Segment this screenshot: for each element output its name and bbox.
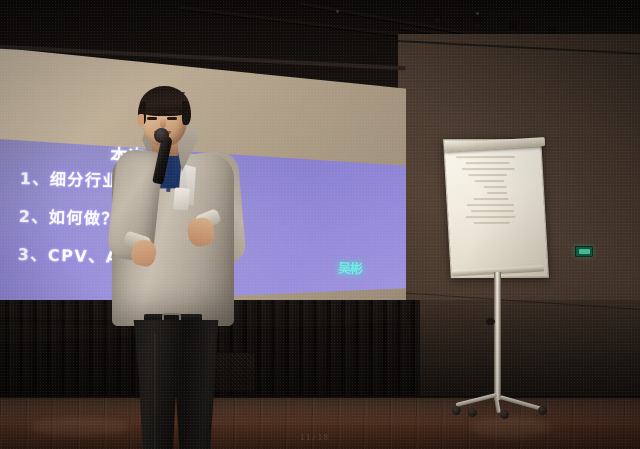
presenter-trousers [130, 320, 222, 449]
base-leg [456, 393, 498, 407]
trouser-crease [154, 334, 156, 449]
handwriting-line [474, 180, 505, 182]
base-leg [499, 395, 542, 411]
eyebrow [166, 111, 179, 114]
caster-wheel [452, 406, 461, 415]
stage-light-icon [434, 10, 441, 19]
hair-side [182, 101, 191, 125]
flipchart-paper [443, 139, 549, 278]
stage-light-icon [474, 16, 481, 25]
handwriting-line [456, 156, 515, 158]
flipchart-handwriting [444, 140, 548, 277]
watermark: 11/18 [300, 433, 329, 442]
light-glint [476, 12, 479, 15]
name-badge [173, 187, 190, 210]
flipchart-height-knob [486, 318, 495, 325]
handwriting-line [468, 174, 508, 176]
presenter-ear [137, 114, 144, 126]
caster-wheel [500, 410, 509, 419]
flipchart-pole [494, 272, 501, 400]
emergency-exit-sign [575, 246, 593, 257]
handwriting-line [487, 192, 507, 194]
presenter [96, 84, 256, 449]
light-glint [336, 10, 339, 13]
flipchart-base [456, 393, 542, 415]
handwriting-line [466, 204, 513, 206]
handwriting-line [461, 168, 514, 170]
caster-wheel [538, 406, 547, 415]
handwriting-line [474, 198, 509, 200]
easel-reflection [470, 416, 550, 438]
caster-wheel [468, 408, 477, 417]
handwriting-line [473, 222, 510, 224]
handwriting-line [471, 210, 514, 212]
handwriting-line [465, 162, 509, 164]
handwriting-line [484, 186, 507, 188]
handwriting-line [465, 216, 515, 218]
slide-logo: 吴彬 [338, 263, 362, 277]
eye [167, 117, 177, 120]
running-person-icon [579, 249, 590, 254]
nose [160, 118, 166, 128]
stage-light-icon [510, 22, 517, 31]
eye [147, 117, 157, 120]
photo-canvas: 本次议题 1、细分行业 2、如何做？ 3、CPV、A如何落地？ 吴彬 [0, 0, 640, 449]
eyebrow [145, 111, 158, 114]
